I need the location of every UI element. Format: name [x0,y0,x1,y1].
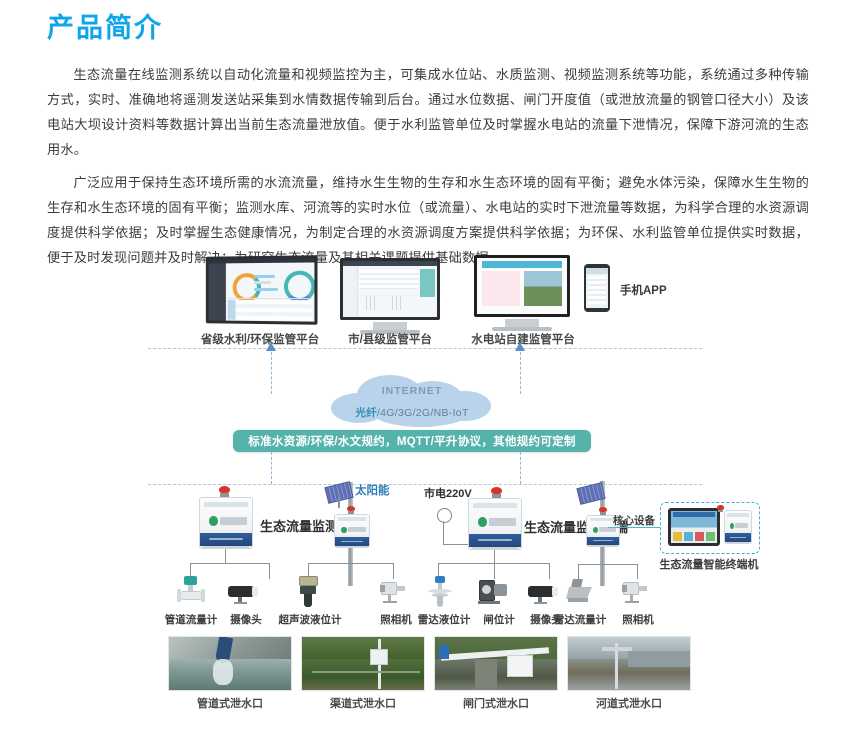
city-monitor-stand [373,322,407,330]
bus-mid-drop-2 [393,563,394,579]
cloud-title: INTERNET [327,385,497,397]
smart-terminal-cabinet [724,510,752,544]
smart-terminal-label: 生态流量智能终端机 [652,556,766,572]
internet-cloud: INTERNET 光纤/4G/3G/2G/NB-IoT [327,375,497,431]
radar-flow-meter-label: 雷达流量计 [549,612,611,627]
terminal-cabinet-mid [334,514,370,548]
river-outlet-hill [628,651,690,667]
cabinet-bandtext-mid [341,541,363,542]
bus-mid-horizontal [308,563,394,564]
cabinet-logotext-far [599,527,616,532]
ultrasonic-level-meter-label: 超声波液位计 [277,612,343,627]
system-architecture-diagram: 省级水利/环保监管平台 市/县级监管平台 [0,238,850,738]
smart-terminal-hmi [668,508,720,546]
city-dashboard-chart-1 [366,296,377,311]
mobile-app-screen [586,268,608,308]
cabinet-foot-mid [337,546,367,547]
radar-flow-meter-icon [566,579,594,605]
mains-outlet-icon [437,508,452,523]
channel-outlet-photo-upper [302,637,424,659]
mains-power-label: 市电220V [424,485,472,501]
pipe-outlet-photo [168,636,292,691]
dashboard-sidebar [209,264,226,321]
gate-outlet-pier [475,659,497,691]
channel-outlet-photo [301,636,425,691]
cabinet-logotext-right [489,518,516,526]
camera-1-label: 摄像头 [222,612,270,627]
cloud-bearer-rest: /4G/3G/2G/NB-IoT [377,407,469,419]
mobile-app-header [586,268,608,274]
alarm-beacon-left [219,486,230,497]
page-title: 产品简介 [47,12,163,46]
smart-cabinet-bandtext [730,537,747,538]
mobile-app-label: 手机APP [620,282,667,298]
river-outlet-caption: 河道式泄水口 [567,695,691,711]
alarm-beacon-right [491,487,502,498]
cabinet-foot-far [589,545,617,546]
station-dashboard-left-card [482,271,520,306]
province-platform-laptop [204,256,317,324]
cabinet-header-mid [338,517,367,521]
separator-line-top [148,348,702,349]
beacon-base-smart [718,510,724,512]
uplink-line-left [271,352,272,394]
channel-outlet-photo-lower [302,659,424,690]
beacon-dome-left [219,486,230,493]
city-dashboard-content [359,270,418,291]
cabinet-foot-right [472,547,518,549]
city-platform-monitor [340,258,440,334]
cabinet-logotext-left [220,517,247,525]
province-platform-caption: 省级水利/环保监管平台 [190,331,330,347]
cabinet-logo-right [478,517,486,527]
dashboard-table-keycol [228,300,235,320]
bus-right-drop-2 [494,563,495,579]
channel-outlet-caption: 渠道式泄水口 [301,695,425,711]
bus-left-vertical [225,549,226,563]
gate-position-meter-icon [478,578,510,606]
river-outlet-photo [567,636,691,691]
dashboard-table-rows [228,300,311,321]
cabinet-band-left [200,533,252,546]
cabinet-bandtext-right [478,539,511,541]
beacon-dome-right [491,487,502,494]
gate-position-meter-label: 闸位计 [474,612,524,627]
solar-mast-left [338,498,340,508]
cabinet-bandtext-left [209,538,242,540]
gate-outlet-blue-panel [439,645,449,659]
smart-cabinet-logotext [735,523,749,528]
alarm-beacon-mid [347,506,355,514]
cabinet-logo-far [593,527,598,533]
pipe-flow-meter-label: 管道流量计 [160,612,222,627]
city-dashboard-sidebar [343,266,358,317]
channel-outlet-rail [312,671,420,673]
station-dashboard-photo [524,271,562,306]
cabinet-logotext-mid [348,527,366,532]
downlink-line-left [271,452,272,484]
bus-left-horizontal [190,563,270,564]
alarm-beacon-far [599,507,607,515]
smart-cabinet-header [727,513,749,517]
camera-1-icon [228,582,264,604]
pipe-outlet-caption: 管道式泄水口 [168,695,292,711]
cabinet-band-mid [335,537,369,545]
station-monitor-stand [505,319,539,327]
downlink-line-right [520,452,521,484]
gate-outlet-caption: 闸门式泄水口 [434,695,558,711]
cabinet-logo-left [209,516,217,526]
cabinet-bandtext-far [593,540,614,541]
still-camera-2-label: 照相机 [614,612,662,627]
protocol-bar: 标准水资源/环保/水文规约，MQTT/平升协议，其他规约可定制 [233,430,591,452]
city-platform-caption: 市/县级监管平台 [330,331,450,347]
city-dashboard-chart-2 [392,296,403,311]
dashboard-kpi-bar-1 [254,275,275,278]
bus-far-drop-2 [637,564,638,579]
bus-far-drop-1 [578,564,579,579]
mains-lead-h [443,544,471,545]
cabinet-header-right [473,503,517,509]
pipe-outlet-water [213,659,233,685]
cloud-bearer-fiber: 光纤 [355,407,377,419]
camera-2-icon [528,582,564,604]
uplink-line-right [520,352,521,394]
still-camera-2-icon [621,580,651,606]
cabinet-logo-mid [341,527,346,533]
channel-outlet-box [370,649,388,665]
cabinet-header-left [204,502,248,508]
mobile-app-list [588,276,607,304]
alarm-beacon-smart [717,505,724,512]
smart-cabinet-foot [727,542,750,543]
core-device-label: 核心设备 [613,513,655,528]
ultrasonic-level-meter-icon [296,576,322,608]
cabinet-foot-left [203,546,249,548]
terminal-cabinet-right [468,498,522,550]
cabinet-band-far [587,537,619,545]
radar-level-meter-label: 雷达液位计 [413,612,475,627]
radar-level-meter-icon [428,576,452,608]
smart-cabinet-logo [730,523,734,529]
terminal-cabinet-left [199,497,253,549]
mains-lead [443,521,444,545]
mobile-app-phone [584,264,610,312]
uplink-arrow-right [515,342,525,351]
pipe-flow-meter-icon [175,576,207,606]
cloud-bearers: 光纤/4G/3G/2G/NB-IoT [327,405,497,420]
gate-outlet-photo [434,636,558,691]
bus-far-horizontal [578,564,638,565]
bus-left-drop-2 [269,563,270,579]
dashboard-kpi-bar-3 [254,287,277,290]
uplink-arrow-left [266,342,276,351]
cabinet-band-right [469,534,521,547]
product-intro-page: 产品简介 生态流量在线监测系统以自动化流量和视频监控为主，可集成水位站、水质监测… [0,0,850,739]
city-dashboard-rightpanel [420,269,435,297]
bus-right-drop-3 [549,563,550,579]
bus-right-vertical [494,550,495,563]
station-platform-monitor [474,255,570,331]
dashboard-kpi-bar-2 [254,281,271,284]
station-dashboard-header [482,261,561,268]
gate-outlet-cabinet [507,655,533,677]
paragraph-1: 生态流量在线监测系统以自动化流量和视频监控为主，可集成水位站、水质监测、视频监测… [47,62,809,162]
solar-label-left: 太阳能 [355,482,390,498]
smart-cabinet-band [725,533,751,541]
still-camera-1-icon [379,580,409,606]
